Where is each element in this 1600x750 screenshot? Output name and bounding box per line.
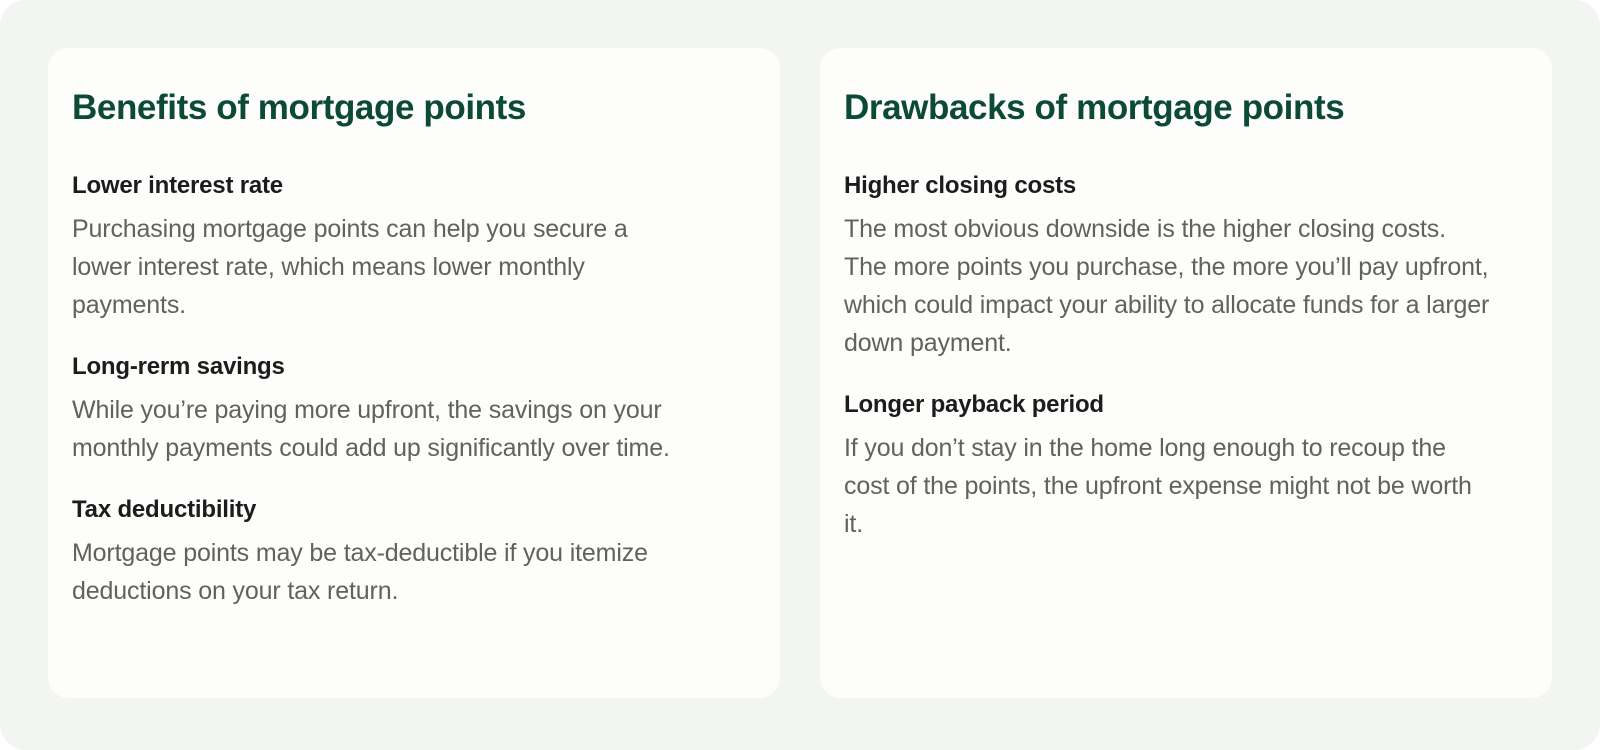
drawbacks-card: Drawbacks of mortgage points Higher clos…	[820, 48, 1552, 698]
benefits-section-long-term-savings: Long-rerm savings While you’re paying mo…	[72, 353, 750, 467]
benefits-section-lower-interest-rate: Lower interest rate Purchasing mortgage …	[72, 172, 750, 324]
section-heading: Longer payback period	[844, 391, 1522, 420]
section-body: Mortgage points may be tax-deductible if…	[72, 534, 684, 610]
section-body: While you’re paying more upfront, the sa…	[72, 391, 684, 467]
section-body: Purchasing mortgage points can help you …	[72, 210, 684, 324]
section-heading: Higher closing costs	[844, 172, 1522, 201]
comparison-cards-row: Benefits of mortgage points Lower intere…	[48, 48, 1552, 698]
drawbacks-section-longer-payback-period: Longer payback period If you don’t stay …	[844, 391, 1522, 543]
page-surface: Benefits of mortgage points Lower intere…	[0, 0, 1600, 750]
benefits-section-tax-deductibility: Tax deductibility Mortgage points may be…	[72, 496, 750, 610]
drawbacks-section-higher-closing-costs: Higher closing costs The most obvious do…	[844, 172, 1522, 362]
section-heading: Tax deductibility	[72, 496, 750, 525]
section-heading: Long-rerm savings	[72, 353, 750, 382]
section-heading: Lower interest rate	[72, 172, 750, 201]
drawbacks-card-title: Drawbacks of mortgage points	[844, 88, 1522, 128]
benefits-card-title: Benefits of mortgage points	[72, 88, 750, 128]
section-body: The most obvious downside is the higher …	[844, 210, 1492, 362]
section-body: If you don’t stay in the home long enoug…	[844, 429, 1492, 543]
benefits-card: Benefits of mortgage points Lower intere…	[48, 48, 780, 698]
